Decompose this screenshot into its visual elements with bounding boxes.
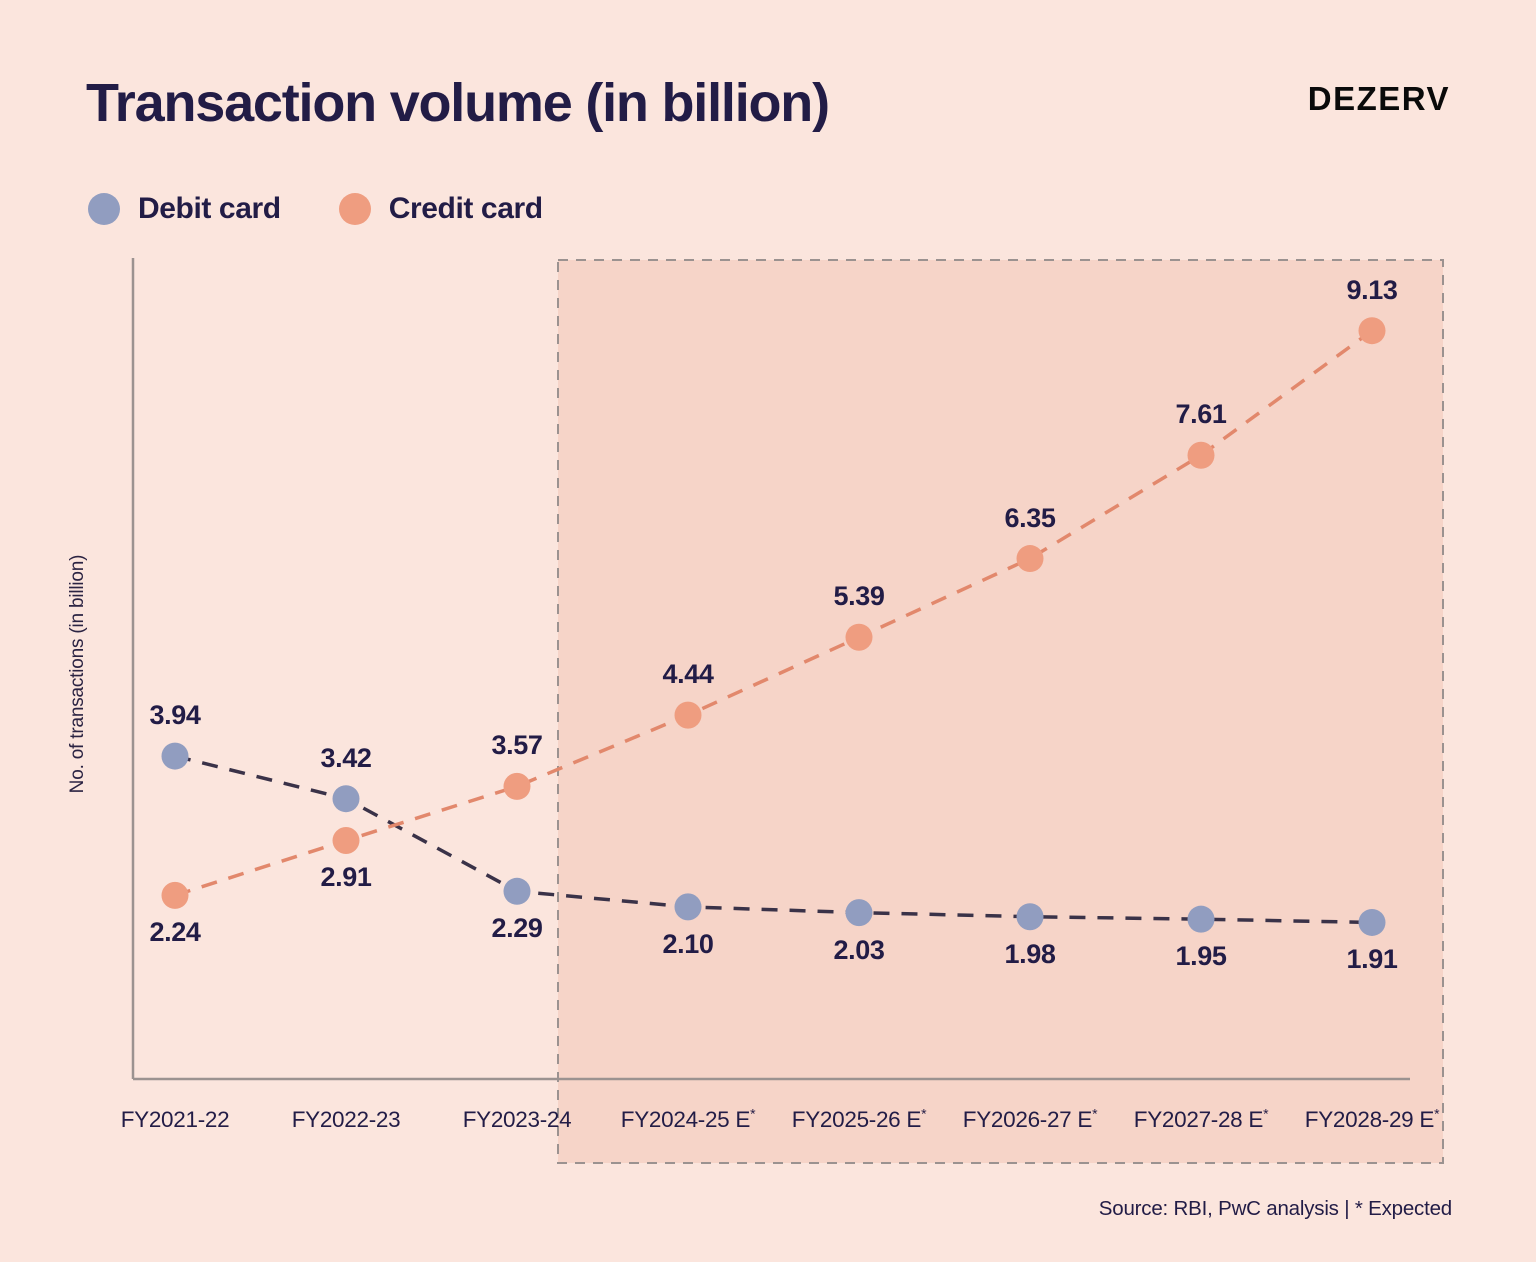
chart-legend: Debit card Credit card [88, 192, 543, 226]
page-title: Transaction volume (in billion) [86, 72, 829, 134]
estimate-asterisk: * [921, 1106, 926, 1122]
legend-item-debit-card: Debit card [88, 192, 281, 226]
x-tick-label: FY2023-24 [463, 1107, 572, 1133]
estimate-asterisk: * [1092, 1106, 1097, 1122]
legend-item-credit-card: Credit card [339, 192, 543, 226]
brand-logo: DEZERV [1308, 80, 1450, 118]
data-value-label: 3.42 [321, 743, 372, 774]
x-tick-label: FY2026-27 E* [963, 1107, 1097, 1133]
data-value-label: 2.29 [492, 913, 543, 944]
data-point-marker [504, 773, 531, 800]
x-tick-label: FY2027-28 E* [1134, 1107, 1268, 1133]
data-point-marker [846, 899, 873, 926]
data-point-marker [1188, 442, 1215, 469]
data-value-label: 1.95 [1176, 941, 1227, 972]
data-value-label: 1.91 [1347, 944, 1398, 975]
data-point-marker [675, 893, 702, 920]
data-value-label: 3.57 [492, 730, 543, 761]
x-tick-label: FY2028-29 E* [1305, 1107, 1439, 1133]
data-value-label: 2.91 [321, 862, 372, 893]
estimate-asterisk: * [1434, 1106, 1439, 1122]
data-value-label: 3.94 [150, 700, 201, 731]
data-value-label: 2.10 [663, 929, 714, 960]
x-tick-label: FY2021-22 [121, 1107, 230, 1133]
legend-label-credit: Credit card [389, 192, 543, 226]
data-point-marker [333, 827, 360, 854]
data-value-label: 6.35 [1005, 503, 1056, 534]
legend-label-debit: Debit card [138, 192, 281, 226]
expected-region-band [558, 260, 1443, 1163]
y-axis-title: No. of transactions (in billion) [67, 514, 89, 834]
data-point-marker [1359, 909, 1386, 936]
data-point-marker [333, 785, 360, 812]
estimate-asterisk: * [1263, 1106, 1268, 1122]
data-point-marker [846, 624, 873, 651]
data-point-marker [1017, 903, 1044, 930]
legend-swatch-debit-icon [88, 193, 120, 225]
x-tick-label: FY2022-23 [292, 1107, 401, 1133]
data-value-label: 1.98 [1005, 939, 1056, 970]
data-point-marker [1359, 317, 1386, 344]
x-tick-label: FY2025-26 E* [792, 1107, 926, 1133]
data-value-label: 2.24 [150, 917, 201, 948]
source-note: Source: RBI, PwC analysis | * Expected [1099, 1197, 1452, 1221]
data-point-marker [675, 702, 702, 729]
data-value-label: 2.03 [834, 935, 885, 966]
data-point-marker [162, 882, 189, 909]
data-value-label: 5.39 [834, 581, 885, 612]
estimate-asterisk: * [750, 1106, 755, 1122]
data-value-label: 4.44 [663, 659, 714, 690]
data-value-label: 7.61 [1176, 399, 1227, 430]
expected-region-label: Expected [624, 344, 735, 375]
data-point-marker [162, 743, 189, 770]
data-point-marker [1017, 545, 1044, 572]
data-value-label: 9.13 [1347, 275, 1398, 306]
data-point-marker [1188, 906, 1215, 933]
legend-swatch-credit-icon [339, 193, 371, 225]
x-tick-label: FY2024-25 E* [621, 1107, 755, 1133]
data-point-marker [504, 878, 531, 905]
series-line-debit-card [175, 756, 1372, 922]
line-chart-plot [0, 0, 1536, 1262]
